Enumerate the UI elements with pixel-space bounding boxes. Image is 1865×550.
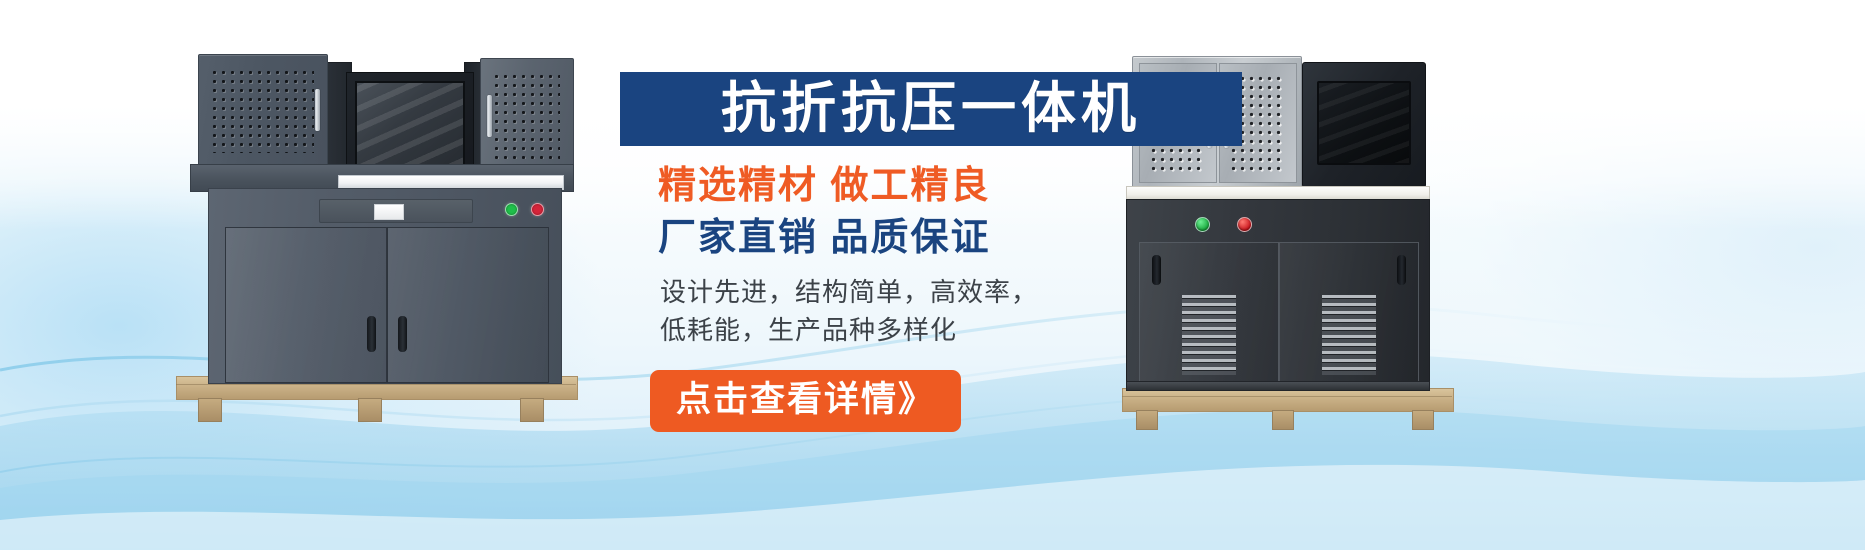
description-line-1: 设计先进，结构简单，高效率， <box>660 274 1260 312</box>
control-panel-strip <box>319 199 473 223</box>
door-handle <box>398 316 407 352</box>
cabinet-handle <box>487 95 492 137</box>
view-details-label: 点击查看详情》 <box>676 382 935 417</box>
banner-title: 抗折抗压一体机 <box>721 81 1141 136</box>
power-led <box>505 203 518 216</box>
door-handle <box>1397 255 1406 285</box>
highlight-tagline: 精选精材 做工精良 <box>620 164 1260 208</box>
lower-cabinet-door-right <box>1279 242 1419 382</box>
monitor-screen <box>1317 81 1411 165</box>
test-chamber-window <box>346 72 474 177</box>
promo-banner: 抗折抗压一体机 精选精材 做工精良 厂家直销 品质保证 设计先进，结构简单，高效… <box>0 0 1865 550</box>
chamber-glass <box>355 81 465 166</box>
product-image-left-machine <box>168 48 586 420</box>
machine-lower-body <box>208 188 562 384</box>
door-handle <box>367 316 376 352</box>
perforation-pattern <box>210 68 314 153</box>
lower-cabinet-door-right <box>387 227 549 383</box>
vent-louver <box>1322 295 1376 375</box>
perforation-pattern <box>492 72 560 159</box>
subtitle-tagline: 厂家直销 品质保证 <box>620 216 1260 260</box>
perforated-cabinet-door-right <box>480 58 574 172</box>
pallet-leg <box>1272 410 1294 430</box>
description-line-2: 低耗能，生产品种多样化 <box>660 312 1260 350</box>
cabinet-handle <box>315 89 320 131</box>
view-details-button[interactable]: 点击查看详情》 <box>650 370 961 432</box>
cta-container: 点击查看详情》 <box>620 370 1260 432</box>
lower-cabinet-door-left <box>225 227 387 383</box>
title-banner-bar: 抗折抗压一体机 <box>620 72 1242 146</box>
perforated-cabinet-door-left <box>198 54 328 166</box>
pallet-leg <box>198 398 222 422</box>
pallet-leg <box>520 398 544 422</box>
description-block: 设计先进，结构简单，高效率， 低耗能，生产品种多样化 <box>620 274 1260 349</box>
monitor-enclosure <box>1302 62 1426 188</box>
promo-text-block: 抗折抗压一体机 精选精材 做工精良 厂家直销 品质保证 设计先进，结构简单，高效… <box>620 72 1260 432</box>
pallet-leg <box>1412 410 1434 430</box>
pallet-seam <box>176 384 576 385</box>
stop-led <box>531 203 544 216</box>
panel-label <box>374 204 404 220</box>
pallet-leg <box>358 398 382 422</box>
